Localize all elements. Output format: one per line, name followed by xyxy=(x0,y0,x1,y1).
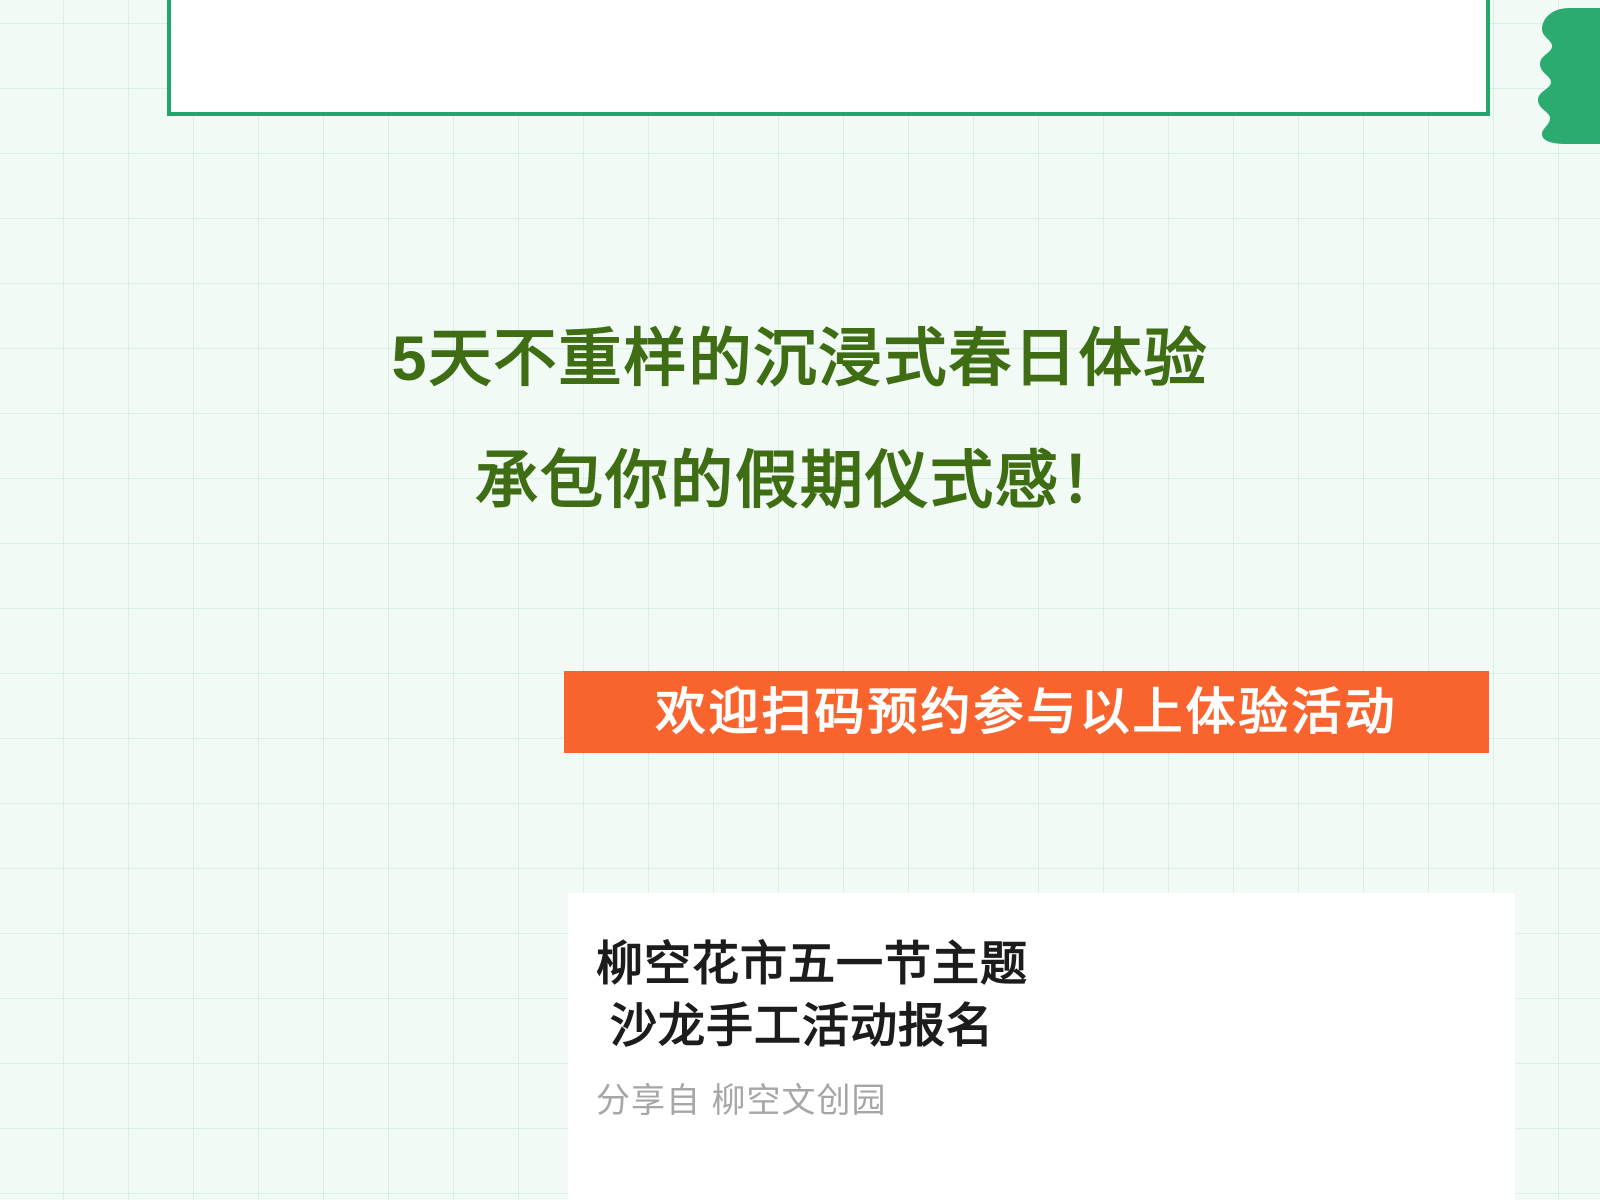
share-card[interactable]: 柳空花市五一节主题 沙龙手工活动报名 分享自 柳空文创园 xyxy=(568,893,1515,1200)
share-card-title-line-1: 柳空花市五一节主题 xyxy=(596,937,1028,990)
share-card-source: 分享自 柳空文创园 xyxy=(596,1079,886,1123)
share-card-title: 柳空花市五一节主题 沙龙手工活动报名 xyxy=(596,933,1476,1057)
cta-banner-label: 欢迎扫码预约参与以上体验活动 xyxy=(656,687,1398,737)
share-card-title-line-2: 沙龙手工活动报名 xyxy=(596,995,1476,1057)
scalloped-cloud-blob-icon xyxy=(1536,8,1600,144)
cta-banner: 欢迎扫码预约参与以上体验活动 xyxy=(564,671,1489,753)
empty-framed-panel xyxy=(167,0,1490,116)
